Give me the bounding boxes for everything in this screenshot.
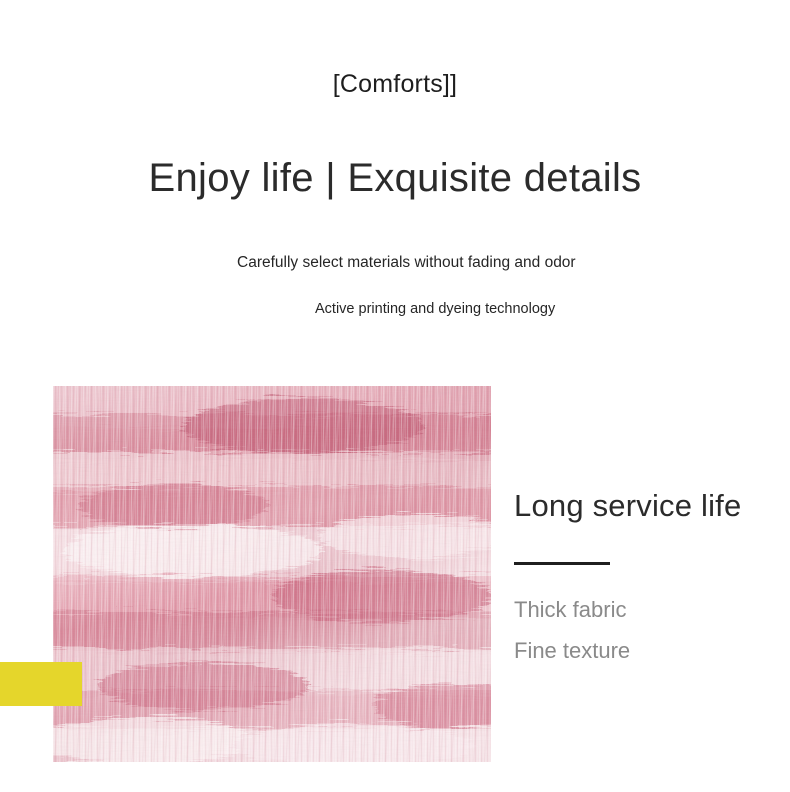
yellow-accent-bar [0, 662, 82, 706]
title-underline-rule [514, 562, 610, 565]
brand-tag: [Comforts]] [0, 68, 790, 100]
side-panel-bullet-fine-texture: Fine texture [514, 636, 630, 666]
promo-banner: [Comforts]] Enjoy life | Exquisite detai… [0, 0, 790, 792]
feature-text-materials: Carefully select materials without fadin… [237, 252, 601, 273]
shaggy-rug-texture-icon [53, 386, 491, 762]
page-title: Enjoy life | Exquisite details [0, 152, 790, 204]
product-photo [53, 386, 491, 762]
side-panel-bullet-thick-fabric: Thick fabric [514, 595, 626, 625]
side-panel-title: Long service life [514, 485, 741, 527]
feature-text-technology: Active printing and dyeing technology [315, 300, 575, 319]
